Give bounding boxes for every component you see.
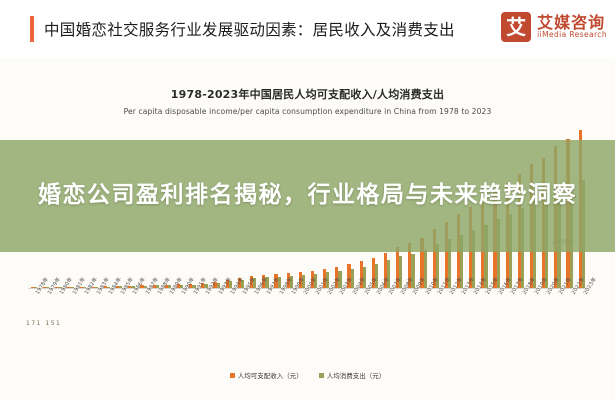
page-header: 中国婚恋社交服务行业发展驱动因素：居民收入及消费支出 艾 艾媒咨询 iiMedi… (0, 0, 615, 58)
page-title: 中国婚恋社交服务行业发展驱动因素：居民收入及消费支出 (44, 18, 455, 40)
x-tick: 2005年 (357, 290, 369, 338)
legend-swatch (230, 373, 235, 378)
x-tick: 1985年 (113, 290, 125, 338)
x-tick: 1996年 (247, 290, 259, 338)
x-tick: 1989年 (162, 290, 174, 338)
header-accent-bar (30, 16, 34, 42)
x-tick: 2010年 (418, 290, 430, 338)
x-tick: 2009年 (405, 290, 417, 338)
x-tick: 1988年 (150, 290, 162, 338)
legend-item[interactable]: 人均可支配收入（元） (230, 370, 303, 380)
logo-name-en: iiMedia Research (537, 31, 607, 39)
x-tick: 2000年 (296, 290, 308, 338)
x-axis-tick-labels: 1978年1979年1980年1981年1982年1983年1984年1985年… (28, 290, 588, 338)
legend-label: 人均可支配收入（元） (238, 370, 303, 380)
x-tick: 1995年 (235, 290, 247, 338)
x-tick: 2004年 (344, 290, 356, 338)
x-tick: 1984年 (101, 290, 113, 338)
x-tick: 2008年 (393, 290, 405, 338)
x-tick: 1979年 (40, 290, 52, 338)
x-tick: 2020年 (539, 290, 551, 338)
x-tick: 2015年 (478, 290, 490, 338)
x-tick: 1983年 (89, 290, 101, 338)
brand-logo: 艾 艾媒咨询 iiMedia Research (501, 12, 607, 42)
x-tick: 2023年 (576, 290, 588, 338)
x-tick: 2002年 (320, 290, 332, 338)
x-tick: 1990年 (174, 290, 186, 338)
x-tick: 2003年 (332, 290, 344, 338)
x-tick: 2001年 (308, 290, 320, 338)
x-tick: 2012年 (442, 290, 454, 338)
logo-name-cn: 艾媒咨询 (537, 15, 607, 32)
x-tick: 2017年 (503, 290, 515, 338)
overlay-headline: 婚恋公司盈利排名揭秘，行业格局与未来趋势洞察 (38, 179, 577, 212)
x-tick: 1997年 (259, 290, 271, 338)
x-tick: 2019年 (527, 290, 539, 338)
x-tick: 1999年 (284, 290, 296, 338)
x-tick: 2016年 (491, 290, 503, 338)
overlay-banner: 婚恋公司盈利排名揭秘，行业格局与未来趋势洞察 (0, 140, 615, 252)
x-tick: 1998年 (271, 290, 283, 338)
x-tick: 2007年 (381, 290, 393, 338)
chart-legend: 人均可支配收入（元）人均消费支出（元） (0, 370, 615, 380)
x-tick: 1978年 (28, 290, 40, 338)
x-tick: 1992年 (198, 290, 210, 338)
x-tick: 1993年 (211, 290, 223, 338)
x-tick: 2013年 (454, 290, 466, 338)
chart-subtitle: Per capita disposable income/per capita … (0, 107, 615, 116)
x-tick: 2018年 (515, 290, 527, 338)
legend-item[interactable]: 人均消费支出（元） (319, 370, 386, 380)
x-tick: 2014年 (466, 290, 478, 338)
x-tick: 1981年 (65, 290, 77, 338)
x-tick: 1980年 (52, 290, 64, 338)
x-tick: 2011年 (430, 290, 442, 338)
x-tick: 1986年 (125, 290, 137, 338)
x-tick: 1987年 (138, 290, 150, 338)
x-tick: 2006年 (369, 290, 381, 338)
chart-title: 1978-2023年中国居民人均可支配收入/人均消费支出 (0, 86, 615, 102)
x-tick: 2021年 (551, 290, 563, 338)
legend-label: 人均消费支出（元） (327, 370, 386, 380)
logo-text: 艾媒咨询 iiMedia Research (537, 15, 607, 40)
x-tick: 1991年 (186, 290, 198, 338)
x-tick: 1982年 (77, 290, 89, 338)
legend-swatch (319, 373, 324, 378)
logo-mark-icon: 艾 (501, 12, 531, 42)
x-tick: 2022年 (564, 290, 576, 338)
x-tick: 1994年 (223, 290, 235, 338)
